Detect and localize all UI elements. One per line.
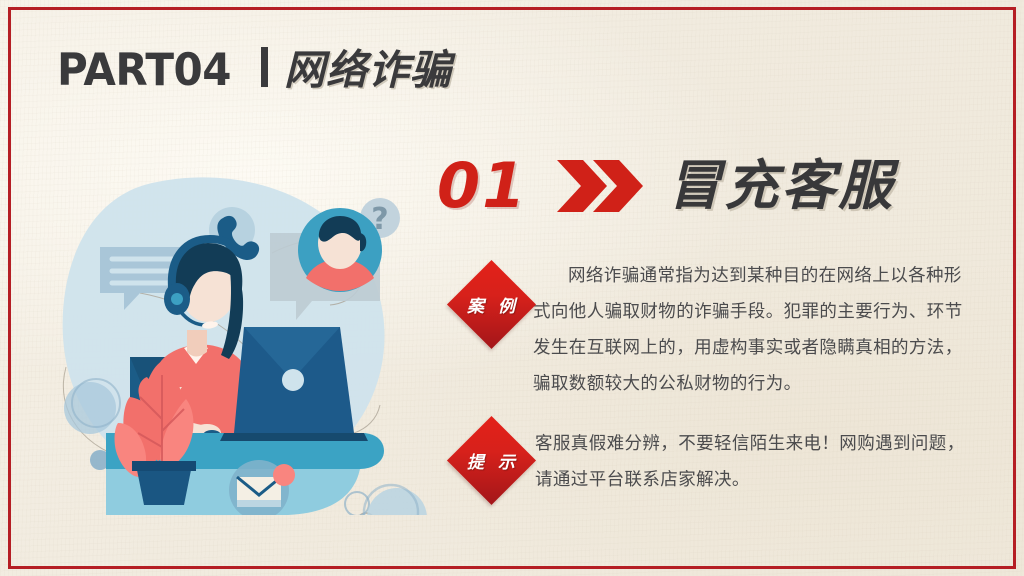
double-chevron-right-icon [553,158,645,214]
content-block-case: 案 例 网络诈骗通常指为达到某种目的在网络上以各种形式向他人骗取财物的诈骗手段。… [443,256,975,402]
header-divider-bar [261,47,268,87]
avatar-user-icon [298,208,382,292]
customer-service-agent-illustration: ? [44,175,444,515]
content-block-tip: 提 示 客服真假难分辨，不要轻信陌生来电！网购遇到问题，请通过平台联系店家解决。 [443,412,975,508]
badge-label: 提 示 [443,412,539,508]
case-paragraph: 网络诈骗通常指为达到某种目的在网络上以各种形式向他人骗取财物的诈骗手段。犯罪的主… [533,256,975,402]
badge-diamond-tip: 提 示 [443,412,539,508]
badge-diamond-case: 案 例 [443,256,539,352]
title-heading: 冒充客服 [667,159,895,213]
section-title: 网络诈骗 [284,50,452,91]
slide-header: PART04 网络诈骗 [57,44,452,91]
badge-label: 案 例 [443,256,539,352]
title-row: 01 冒充客服 [437,148,895,224]
tip-paragraph: 客服真假难分辨，不要轻信陌生来电！网购遇到问题，请通过平台联系店家解决。 [535,412,975,498]
part-label: PART04 [57,48,231,93]
title-number: 01 [437,155,527,217]
slide-root: PART04 网络诈骗 01 冒充客服 案 例 网络诈骗通常指为达到某种目的在网… [0,0,1024,576]
